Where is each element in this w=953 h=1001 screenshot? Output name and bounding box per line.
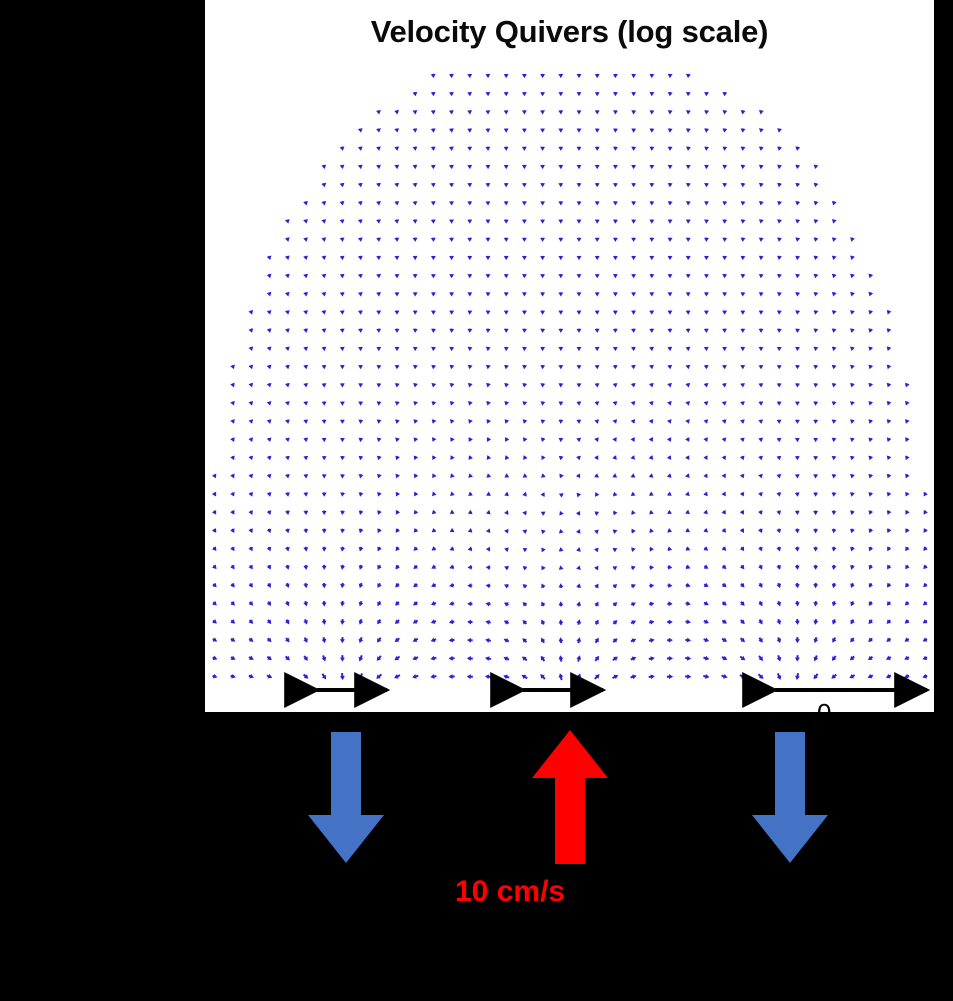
- figure-canvas: Velocity Quivers (log scale) 0 1: [0, 0, 953, 1001]
- plot-panel: Velocity Quivers (log scale) 0: [205, 0, 934, 712]
- forcing-arrow-layer: [0, 712, 953, 1001]
- downwelling-right-arrow: [747, 732, 833, 867]
- axis-tick-label-clipped: 0: [817, 700, 831, 712]
- upwelling-center-arrow: [527, 727, 613, 867]
- velocity-scale-label: 10 cm/s: [455, 875, 565, 909]
- downwelling-left-arrow: [303, 732, 389, 867]
- scale-bar-group: [205, 0, 934, 712]
